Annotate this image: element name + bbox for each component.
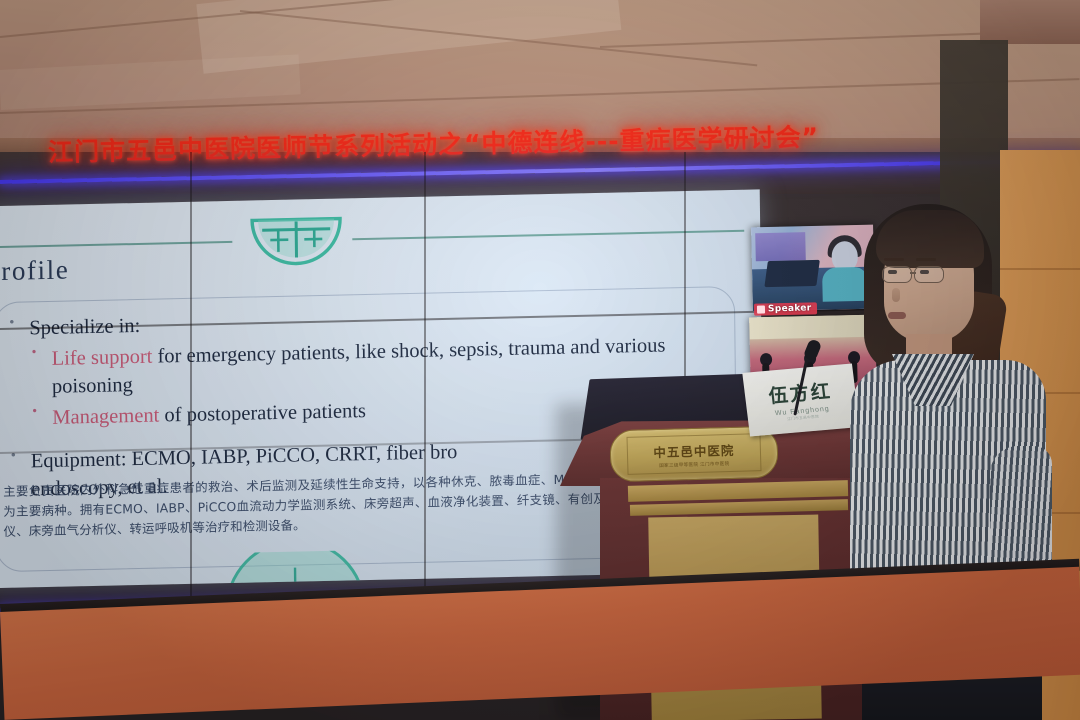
speaker-badge: Speaker <box>754 302 817 315</box>
speaker-badge-label: Speaker <box>768 303 812 314</box>
conference-photo-scene: 江门市五邑中医院医师节系列活动之“中德连线---重症医学研讨会” Profile… <box>0 0 1080 720</box>
hospital-crest-logo-bottom-icon <box>220 550 371 589</box>
hospital-crest-logo-icon <box>248 216 345 266</box>
slide-title: Profile <box>0 254 70 287</box>
slide-highlight-life-support: Life support <box>52 346 153 370</box>
feed-laptop-icon <box>764 260 820 287</box>
eyeglasses-bridge <box>910 272 916 274</box>
eyeglasses-right-lens-icon <box>914 266 944 283</box>
speaker-nose <box>892 288 900 302</box>
slide-highlight-management: Management <box>52 405 159 429</box>
feed-background <box>755 232 806 261</box>
eyeglasses-left-lens-icon <box>882 266 912 283</box>
speaker-mouth <box>888 312 906 319</box>
right-wall-cornice <box>980 0 1080 44</box>
slide-rule-right <box>352 230 744 241</box>
speaker-badge-icon <box>757 305 765 313</box>
slide-bullet-equipment-line1: Equipment: ECMO, IABP, PiCCO, CRRT, fibe… <box>31 441 458 472</box>
plaque-hospital-name: 中五邑中医院 <box>653 439 735 460</box>
slide-subbullet-management-rest: of postoperative patients <box>159 400 366 427</box>
slide-rule-left <box>0 241 232 248</box>
